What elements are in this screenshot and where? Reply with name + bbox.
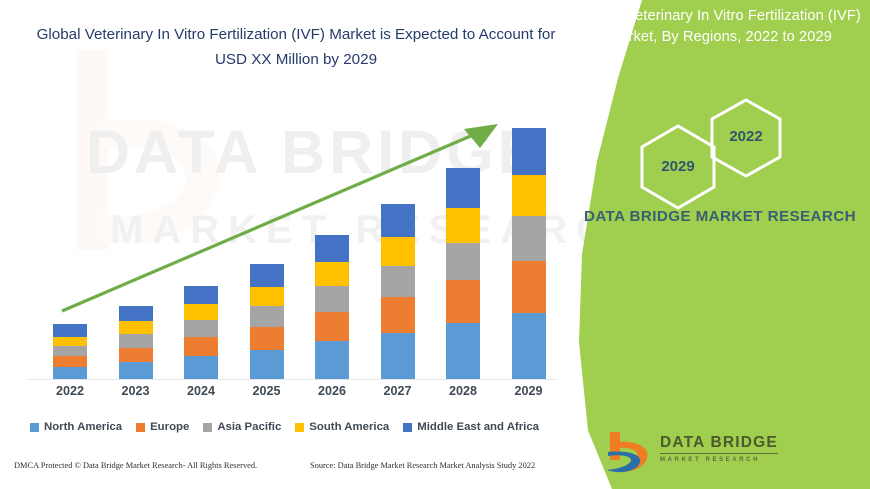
- hexagon-2022-label: 2022: [706, 128, 786, 145]
- panel-title: Global Veterinary In Vitro Fertilization…: [576, 6, 864, 48]
- bar-2024: [184, 286, 218, 379]
- bar-segment: [184, 356, 218, 379]
- chart-legend: North AmericaEuropeAsia PacificSouth Ame…: [30, 418, 539, 436]
- bar-segment: [381, 333, 415, 379]
- x-axis-labels: 20222023202420252026202720282029: [28, 384, 568, 406]
- bar-chart-plot: [28, 96, 568, 380]
- bar-segment: [119, 334, 153, 348]
- bar-segment: [184, 337, 218, 356]
- bar-segment: [250, 287, 284, 306]
- x-label-2028: 2028: [433, 384, 493, 398]
- bar-segment: [53, 324, 87, 337]
- bar-segment: [381, 266, 415, 298]
- chart-title: Global Veterinary In Vitro Fertilization…: [28, 22, 564, 72]
- bar-segment: [381, 237, 415, 265]
- legend-item[interactable]: Asia Pacific: [203, 421, 281, 433]
- footer-copyright: DMCA Protected © Data Bridge Market Rese…: [14, 461, 257, 470]
- infographic-root: DATA BRIDGE MARKET RESEARCH Global Veter…: [0, 0, 870, 489]
- legend-label: Middle East and Africa: [417, 421, 539, 433]
- bar-segment: [53, 367, 87, 379]
- logo-wordmark: DATA BRIDGE: [660, 434, 778, 454]
- footer: DMCA Protected © Data Bridge Market Rese…: [0, 459, 600, 483]
- bar-segment: [446, 280, 480, 323]
- x-label-2029: 2029: [499, 384, 559, 398]
- bar-segment: [250, 264, 284, 287]
- bar-segment: [446, 323, 480, 379]
- panel-brand-text: DATA BRIDGE MARKET RESEARCH: [576, 205, 864, 228]
- bar-segment: [119, 306, 153, 322]
- legend-swatch-icon: [403, 423, 412, 432]
- legend-item[interactable]: Middle East and Africa: [403, 421, 539, 433]
- legend-swatch-icon: [30, 423, 39, 432]
- bar-segment: [315, 312, 349, 341]
- bar-2023: [119, 306, 153, 379]
- bar-segment: [53, 356, 87, 368]
- legend-item[interactable]: Europe: [136, 421, 189, 433]
- bar-2029: [512, 128, 546, 379]
- bar-segment: [53, 346, 87, 355]
- legend-label: Asia Pacific: [217, 421, 281, 433]
- bar-segment: [250, 306, 284, 327]
- bar-segment: [446, 243, 480, 281]
- legend-swatch-icon: [203, 423, 212, 432]
- x-label-2024: 2024: [171, 384, 231, 398]
- bar-segment: [184, 286, 218, 305]
- bar-segment: [315, 262, 349, 285]
- bar-segment: [446, 208, 480, 243]
- legend-swatch-icon: [295, 423, 304, 432]
- bar-segment: [184, 304, 218, 320]
- bar-segment: [119, 362, 153, 379]
- legend-swatch-icon: [136, 423, 145, 432]
- x-label-2022: 2022: [40, 384, 100, 398]
- bar-segment: [512, 216, 546, 261]
- bar-segment: [315, 286, 349, 312]
- data-bridge-b-icon: [604, 430, 652, 474]
- x-label-2023: 2023: [106, 384, 166, 398]
- legend-item[interactable]: North America: [30, 421, 122, 433]
- bar-segment: [315, 235, 349, 262]
- hexagon-2022: 2022: [706, 96, 786, 180]
- bar-segment: [446, 168, 480, 208]
- bar-segment: [250, 350, 284, 379]
- bar-segment: [119, 321, 153, 334]
- x-label-2026: 2026: [302, 384, 362, 398]
- bar-segment: [512, 261, 546, 312]
- x-label-2025: 2025: [237, 384, 297, 398]
- x-label-2027: 2027: [368, 384, 428, 398]
- bar-2022: [53, 324, 87, 379]
- bar-segment: [381, 297, 415, 333]
- bar-segment: [512, 313, 546, 379]
- legend-item[interactable]: South America: [295, 421, 389, 433]
- bar-segment: [512, 128, 546, 175]
- bar-segment: [119, 348, 153, 363]
- bar-2026: [315, 235, 349, 379]
- bar-2028: [446, 168, 480, 379]
- footer-source: Source: Data Bridge Market Research Mark…: [310, 461, 535, 470]
- bar-2025: [250, 264, 284, 379]
- legend-label: Europe: [150, 421, 189, 433]
- bar-segment: [381, 204, 415, 238]
- bar-segment: [53, 337, 87, 346]
- axis-baseline: [28, 379, 556, 380]
- legend-label: North America: [44, 421, 122, 433]
- hexagon-group: 2029 2022: [582, 100, 858, 190]
- data-bridge-logo: DATA BRIDGE MARKET RESEARCH: [604, 428, 784, 476]
- bar-2027: [381, 204, 415, 379]
- green-side-panel: [570, 0, 870, 489]
- bar-segment: [512, 175, 546, 216]
- bar-segment: [250, 327, 284, 350]
- bar-segment: [184, 320, 218, 337]
- logo-subtitle: MARKET RESEARCH: [660, 457, 784, 463]
- bar-segment: [315, 341, 349, 379]
- legend-label: South America: [309, 421, 389, 433]
